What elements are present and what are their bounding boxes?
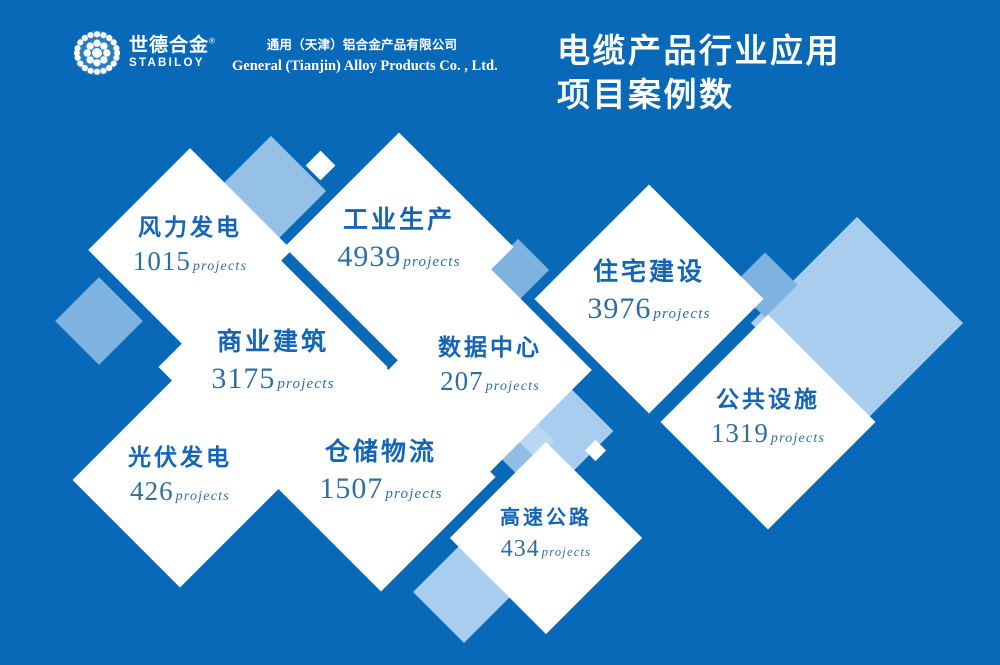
company-name: 通用（天津）铝合金产品有限公司 General (Tianjin) Alloy … [232, 34, 492, 75]
tile-public-facilities[interactable]: 公共设施 1319 projects [692, 346, 844, 498]
company-name-cn: 通用（天津）铝合金产品有限公司 [232, 34, 492, 53]
brand-name-cn: 世德合金® [129, 36, 216, 55]
poster-header: 世德合金® STABILOY 通用（天津）铝合金产品有限公司 General (… [0, 0, 1000, 125]
page-title-line1: 电缆产品行业应用 [557, 29, 841, 73]
tile-warehouse[interactable]: 仓储物流 1507 projects [300, 396, 462, 558]
brand-logo: 世德合金® STABILOY [74, 30, 216, 76]
brand-wordmark: 世德合金® STABILOY [129, 36, 216, 70]
company-name-en: General (Tianjin) Alloy Products Co. , L… [232, 58, 492, 75]
brand-name-cn-text: 世德合金 [129, 35, 209, 56]
tile-solar-power[interactable]: 光伏发电 426 projects [104, 404, 256, 556]
concentric-dot-cable-logo-icon [74, 30, 120, 76]
brand-name-en: STABILOY [129, 58, 205, 70]
tile-face [73, 373, 288, 588]
tile-face [266, 362, 495, 591]
tile-highway[interactable]: 高速公路 434 projects [478, 470, 614, 606]
tile-face [450, 442, 642, 634]
page-title: 电缆产品行业应用 项目案例数 [557, 29, 841, 116]
registered-trademark-icon: ® [209, 37, 216, 46]
page-title-line2: 项目案例数 [557, 73, 841, 117]
infographic-poster: 世德合金® STABILOY 通用（天津）铝合金产品有限公司 General (… [0, 0, 1000, 665]
tile-face [661, 315, 876, 530]
